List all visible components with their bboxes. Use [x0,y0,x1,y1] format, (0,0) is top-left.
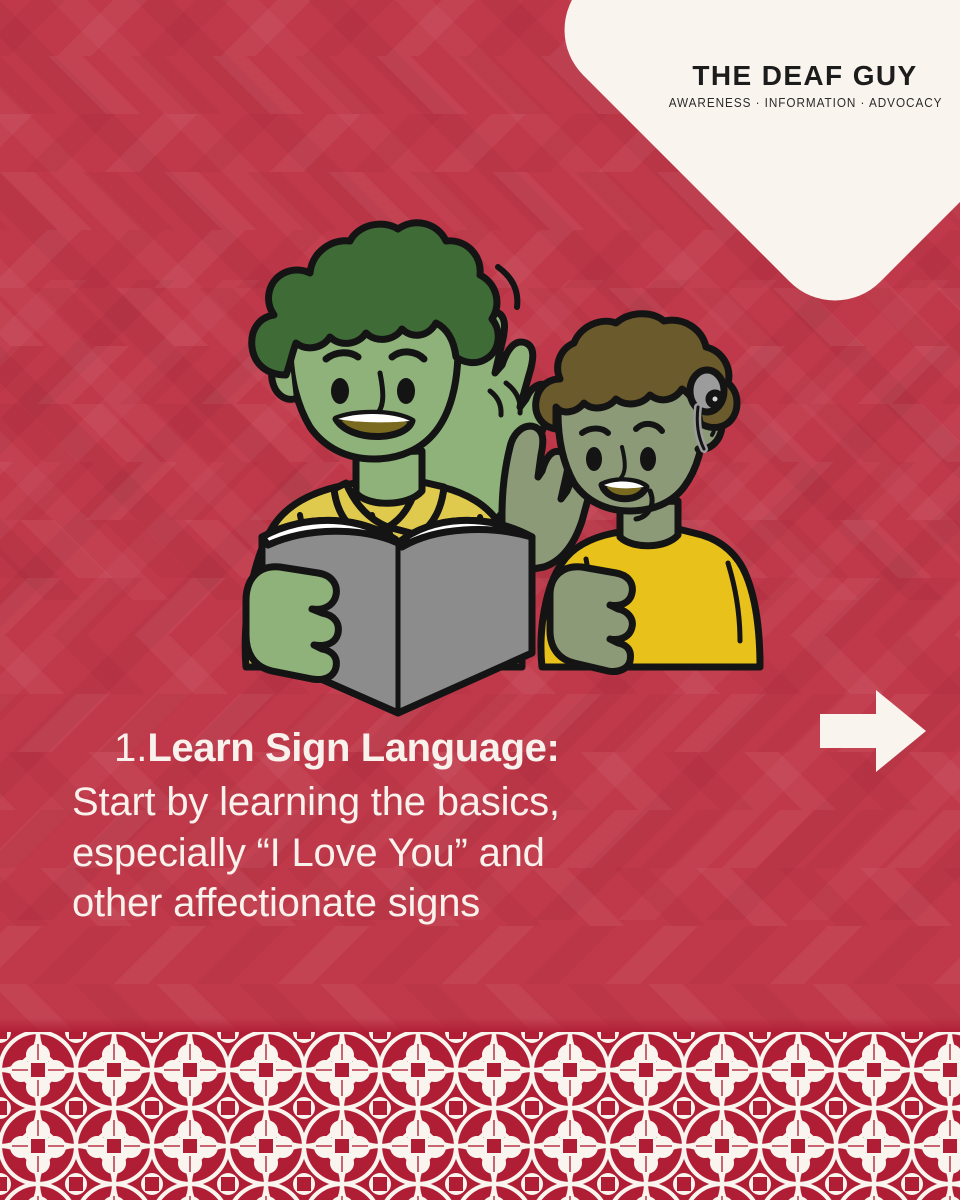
arrow-right-icon [820,688,928,774]
illustration-two-people-reading [150,215,770,715]
caption-heading: 1.Learn Sign Language: [72,726,772,771]
caption-title: Learn Sign Language: [147,726,559,770]
caption-body: Start by learning the basics, especially… [72,777,772,929]
poster-canvas: THE DEAF GUY AWARENESS · INFORMATION · A… [0,0,960,1200]
child-eye-right [640,447,656,471]
adult-eye-right [397,378,415,404]
adult-eye-left [331,378,349,404]
caption-number: 1. [114,726,147,770]
adult-hand-on-book [246,567,338,680]
caption-body-line: especially “I Love You” and [72,828,772,879]
caption-body-line: Start by learning the basics, [72,777,772,828]
next-arrow-button[interactable] [820,688,928,774]
child-hand-on-book [550,567,632,672]
caption-body-line: other affectionate signs [72,878,772,929]
child-eye-left [586,447,602,471]
bottom-tile-pattern [0,1032,960,1200]
tile-band-fade [0,1018,960,1032]
caption-block: 1.Learn Sign Language: Start by learning… [72,726,772,929]
